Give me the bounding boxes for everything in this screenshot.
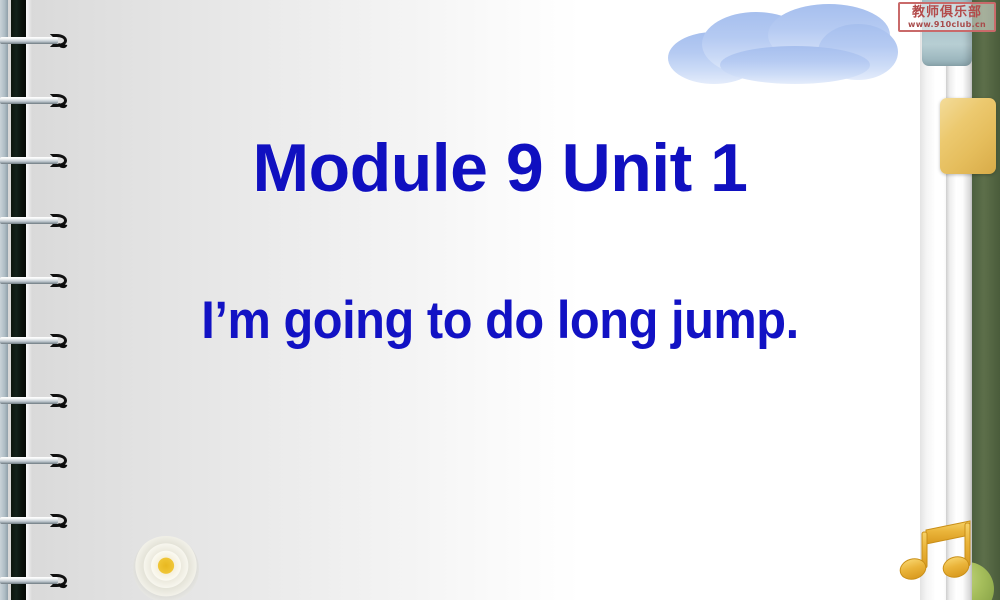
binding-ring-hook-tip	[58, 223, 68, 229]
binding-ring-hook	[50, 574, 67, 587]
binding-ring-hook	[50, 214, 67, 227]
binding-ring-hook	[50, 34, 67, 47]
binding-ring-hook-tip	[58, 583, 68, 589]
binding-ring-hook	[50, 274, 67, 287]
binding-ring-hook-tip	[58, 43, 68, 49]
binding-ring-hook-tip	[58, 103, 68, 109]
binding-ring-hook	[50, 514, 67, 527]
binding-ring-hook	[50, 94, 67, 107]
slide-canvas: 教师俱乐部 www.910club.cn Module 9 Unit 1 I’m…	[0, 0, 1000, 600]
binding-strip	[11, 0, 26, 600]
cloud-icon	[668, 2, 896, 84]
binding-ring-hook	[50, 454, 67, 467]
binding-ring-hook-tip	[58, 463, 68, 469]
binding-edge	[0, 0, 8, 600]
watermark-chinese-text: 教师俱乐部	[912, 6, 982, 19]
slide-title: Module 9 Unit 1	[0, 134, 1000, 202]
binding-paper-edge	[26, 0, 32, 600]
watermark: 教师俱乐部 www.910club.cn	[898, 2, 996, 32]
slide-subtitle: I’m going to do long jump.	[40, 294, 960, 347]
watermark-url-text: www.910club.cn	[908, 21, 986, 29]
binding-ring-hook-tip	[58, 283, 68, 289]
binding-ring-hook-tip	[58, 403, 68, 409]
cloud-base	[720, 46, 870, 84]
music-note-icon	[898, 514, 982, 586]
binding-ring-hook-tip	[58, 523, 68, 529]
binding-ring-hook	[50, 394, 67, 407]
target-circle	[133, 536, 199, 600]
